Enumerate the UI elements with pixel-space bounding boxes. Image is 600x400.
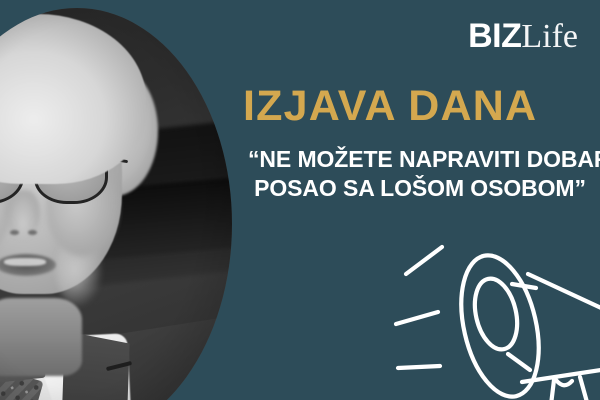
quote-line-2: POSAO SA LOŠOM OSOBOM” [244,174,596,203]
quote-text: “NE MOŽETE NAPRAVITI DOBAR POSAO SA LOŠO… [244,145,596,202]
megaphone-sound-line-2 [396,312,438,324]
brand-logo[interactable]: BIZLife [468,19,578,54]
portrait-avatar [0,8,232,400]
brand-logo-life: Life [521,18,578,55]
megaphone-ring-connector-top [512,284,536,288]
portrait-vignette [0,8,232,400]
megaphone-handle-right [580,377,590,400]
megaphone-ring-connector-bottom [508,354,530,370]
quote-line-1: “NE MOŽETE NAPRAVITI DOBAR [248,145,596,174]
megaphone-icon [404,228,600,400]
quote-card: BIZLife IZJAVA DANA “NE MOŽETE NAPRAVITI… [0,0,600,400]
megaphone-bell [449,248,552,400]
megaphone-sound-line-3 [398,366,440,368]
brand-logo-biz: BIZ [468,17,521,55]
megaphone-handle-left [550,380,554,400]
headline-izjava-dana: IZJAVA DANA [243,84,537,129]
megaphone-sound-line-1 [406,247,442,274]
portrait-photo [0,8,232,400]
megaphone-cone-top [528,274,600,314]
megaphone-handle-strap [556,380,572,385]
